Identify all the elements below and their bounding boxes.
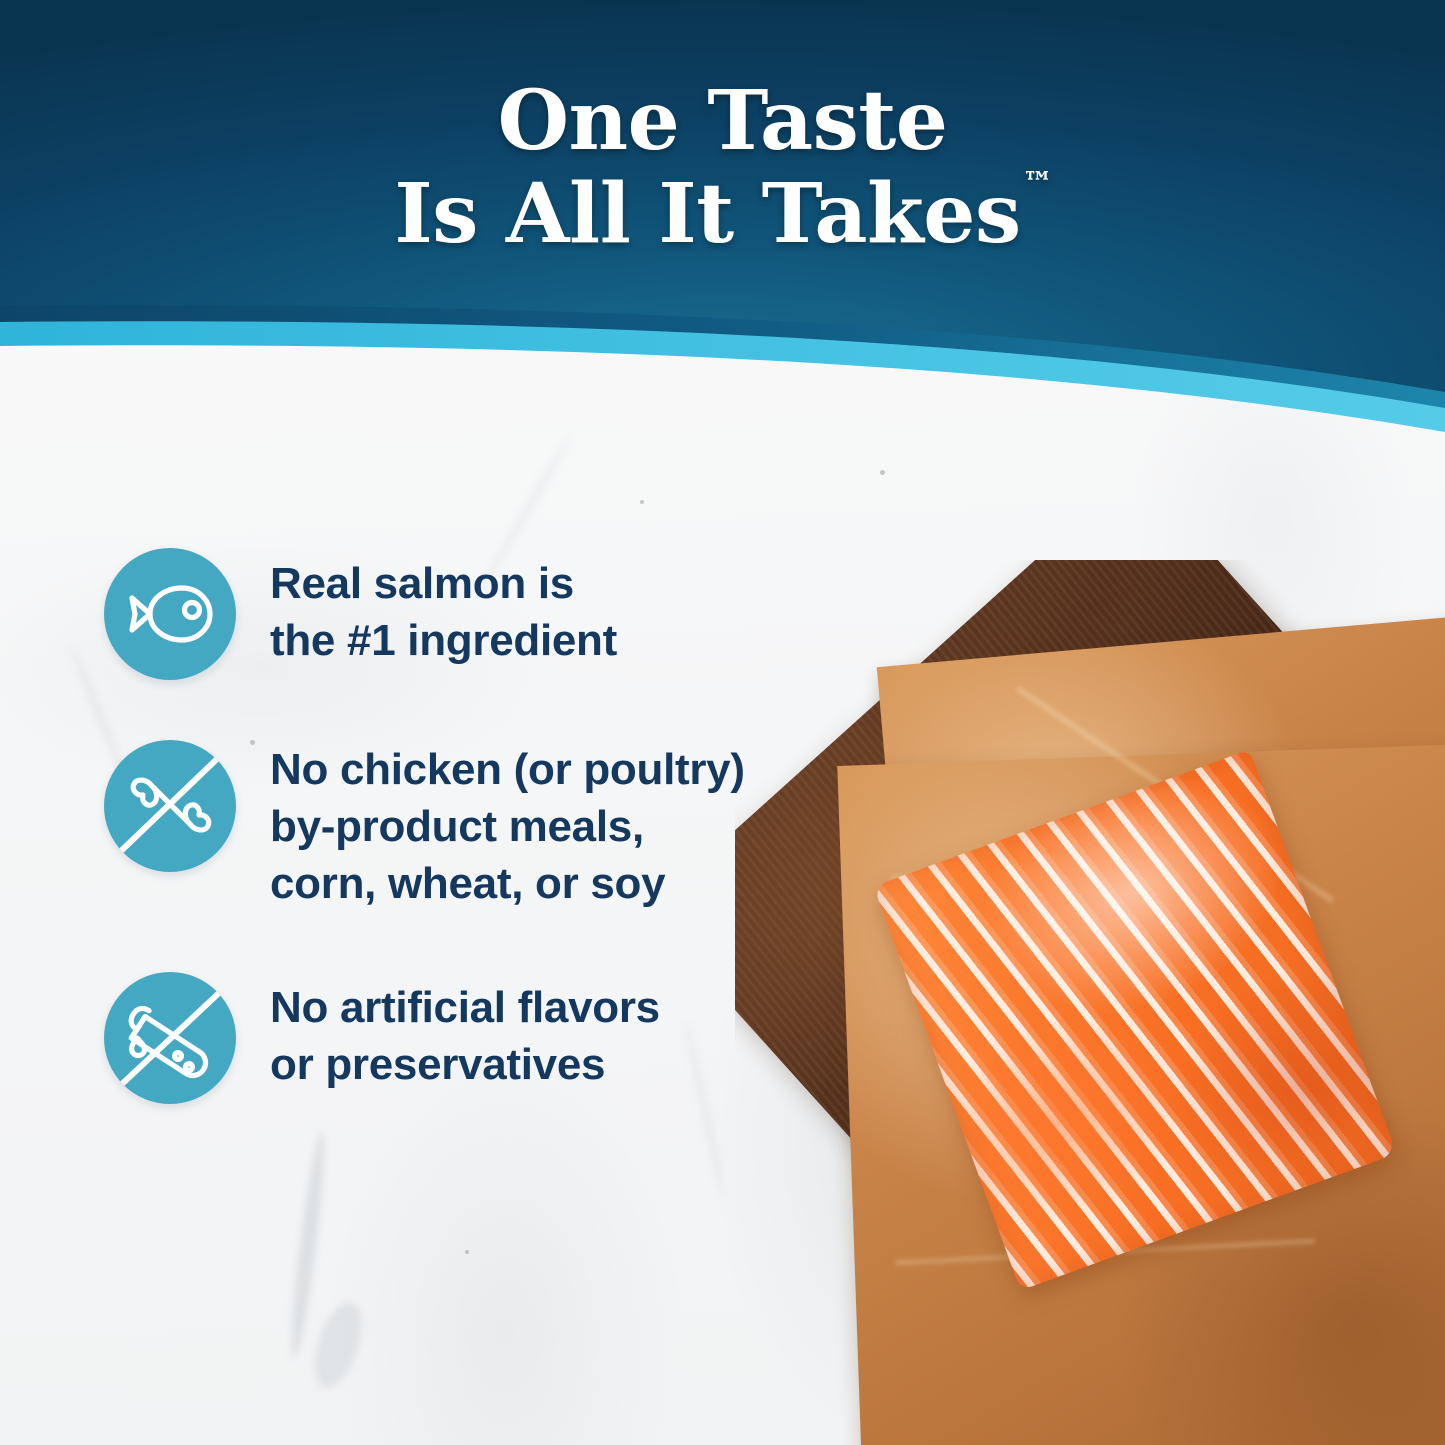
- benefit-item-real-salmon: Real salmon is the #1 ingredient: [104, 548, 864, 680]
- headline-line-1: One Taste: [498, 73, 948, 169]
- promo-image-canvas: One TasteIs All It Takes™ Real salmon is…: [0, 0, 1445, 1445]
- benefit-label: Real salmon is the #1 ingredient: [270, 548, 617, 670]
- fish-icon: [104, 548, 236, 680]
- header-banner: One TasteIs All It Takes™: [0, 0, 1445, 470]
- marble-speck: [880, 470, 885, 475]
- benefit-item-no-artificial: No artificial flavors or preservatives: [104, 972, 864, 1104]
- benefit-item-no-chicken: No chicken (or poultry) by-product meals…: [104, 740, 864, 912]
- no-bone-icon: [104, 740, 236, 872]
- benefits-list: Real salmon is the #1 ingredient: [104, 548, 864, 1104]
- page-title: One TasteIs All It Takes™: [0, 75, 1445, 260]
- marble-speck: [640, 500, 644, 504]
- trademark-symbol: ™: [1023, 166, 1053, 201]
- benefit-label: No artificial flavors or preservatives: [270, 972, 660, 1094]
- headline-line-2: Is All It Takes: [394, 166, 1020, 262]
- no-test-tube-icon: [104, 972, 236, 1104]
- marble-speck: [465, 1250, 469, 1254]
- benefit-label: No chicken (or poultry) by-product meals…: [270, 740, 745, 912]
